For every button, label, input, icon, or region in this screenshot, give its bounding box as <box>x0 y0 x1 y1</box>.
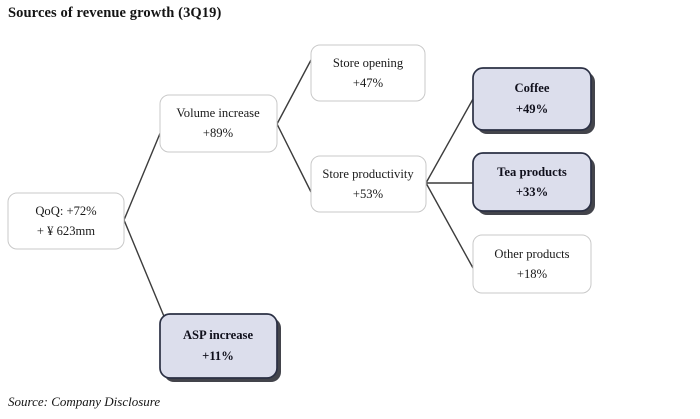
node-asp-increase[interactable]: ASP increase +11% <box>160 314 281 382</box>
node-other-products-box <box>473 235 591 293</box>
node-tea-products-line2: +33% <box>516 185 548 199</box>
edge-volume-increase-to-store-opening <box>277 60 311 124</box>
node-tea-products[interactable]: Tea products +33% <box>473 153 595 215</box>
node-root-box <box>8 193 124 249</box>
node-volume-increase-line1: Volume increase <box>176 106 260 120</box>
node-volume-increase-box <box>160 95 277 152</box>
node-other-products-line1: Other products <box>494 247 569 261</box>
edge-store-productivity-to-coffee <box>426 99 473 183</box>
node-store-productivity[interactable]: Store productivity +53% <box>311 156 426 212</box>
node-store-productivity-line2: +53% <box>353 187 384 201</box>
node-volume-increase-line2: +89% <box>203 126 234 140</box>
edge-store-productivity-to-other-products <box>426 183 473 268</box>
node-store-productivity-line1: Store productivity <box>322 167 414 181</box>
node-coffee[interactable]: Coffee +49% <box>473 68 595 134</box>
node-tea-products-box <box>473 153 591 211</box>
node-root-line2: + ¥ 623mm <box>37 224 95 238</box>
node-store-opening-line2: +47% <box>353 76 384 90</box>
source-note: Source: Company Disclosure <box>8 394 160 410</box>
node-store-opening-box <box>311 45 425 101</box>
diagram-page: Sources of revenue growth (3Q19) QoQ: +7… <box>0 0 700 419</box>
node-root[interactable]: QoQ: +72% + ¥ 623mm <box>8 193 124 249</box>
node-other-products-line2: +18% <box>517 267 548 281</box>
node-volume-increase[interactable]: Volume increase +89% <box>160 95 277 152</box>
edge-root-to-asp-increase <box>124 220 168 326</box>
node-asp-increase-line1: ASP increase <box>183 328 253 342</box>
node-root-line1: QoQ: +72% <box>35 204 97 218</box>
node-asp-increase-box <box>160 314 277 378</box>
node-other-products[interactable]: Other products +18% <box>473 235 591 293</box>
node-coffee-line2: +49% <box>516 102 548 116</box>
node-asp-increase-line2: +11% <box>202 349 234 363</box>
edge-volume-increase-to-store-productivity <box>277 124 311 192</box>
node-store-opening[interactable]: Store opening +47% <box>311 45 425 101</box>
node-store-productivity-box <box>311 156 426 212</box>
node-coffee-box <box>473 68 591 130</box>
revenue-growth-tree-diagram: QoQ: +72% + ¥ 623mm Volume increase +89%… <box>0 0 700 419</box>
node-tea-products-line1: Tea products <box>497 165 567 179</box>
node-store-opening-line1: Store opening <box>333 56 404 70</box>
node-coffee-line1: Coffee <box>515 81 550 95</box>
